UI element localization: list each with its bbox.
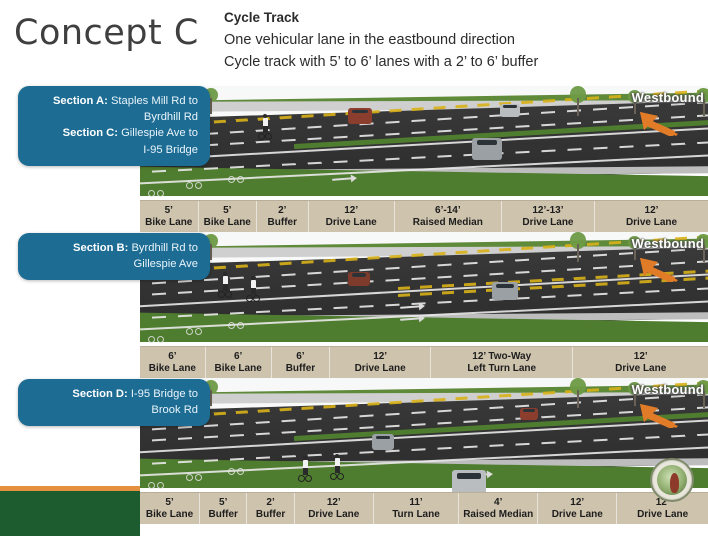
dimension-width: 6’-14’ bbox=[435, 205, 461, 216]
dimension-width: 12’ bbox=[327, 497, 341, 508]
vehicle bbox=[348, 108, 372, 124]
dimension-name: Buffer bbox=[286, 363, 315, 374]
bicycle-wheel bbox=[218, 291, 225, 298]
bike-wheel bbox=[195, 328, 202, 335]
bicycle-wheel bbox=[253, 295, 260, 302]
street-scene-b: Westbound bbox=[140, 232, 708, 346]
dimension-width: 2’ bbox=[266, 497, 274, 508]
dimension-cell: 2’Buffer bbox=[256, 201, 308, 232]
dimension-width: 12’ Two-Way bbox=[472, 351, 531, 362]
tree-trunk bbox=[577, 390, 579, 408]
concept-line-1: One vehicular lane in the eastbound dire… bbox=[224, 29, 702, 51]
bike-wheel bbox=[228, 176, 235, 183]
vehicle bbox=[500, 104, 520, 117]
bicycle-wheel bbox=[305, 475, 312, 482]
bike-wheel bbox=[237, 176, 244, 183]
dimension-width: 4’ bbox=[494, 497, 502, 508]
bike-lane-symbol bbox=[186, 474, 202, 482]
agency-seal-icon bbox=[650, 458, 694, 502]
callout-line: Section A: Staples Mill Rd to bbox=[30, 93, 198, 109]
bike-lane-symbol bbox=[228, 468, 244, 476]
callout-line: Gillespie Ave bbox=[30, 256, 198, 272]
slide-root: Concept C Cycle Track One vehicular lane… bbox=[0, 0, 708, 536]
dimension-cell: 2’Buffer bbox=[246, 493, 293, 524]
tree-trunk bbox=[210, 390, 212, 406]
vehicle-window bbox=[352, 110, 368, 114]
bike-wheel bbox=[157, 190, 164, 197]
concept-line-2: Cycle track with 5’ to 6’ lanes with a 2… bbox=[224, 51, 702, 73]
cyclist-legs bbox=[263, 126, 268, 133]
dimension-cell: 12’Drive Lane bbox=[329, 347, 430, 378]
dimension-name: Turn Lane bbox=[392, 509, 440, 520]
dimension-width: 2’ bbox=[278, 205, 286, 216]
vehicle-window bbox=[496, 284, 514, 288]
dimension-strip-ac: 5’Bike Lane5’Bike Lane2’Buffer12’Drive L… bbox=[140, 200, 708, 232]
callout-line: Byrdhill Rd bbox=[30, 109, 198, 125]
dimension-cell: 6’Bike Lane bbox=[205, 347, 271, 378]
dimension-name: Buffer bbox=[208, 509, 237, 520]
bike-wheel bbox=[195, 474, 202, 481]
dimension-cell: 12’Drive Lane bbox=[537, 493, 616, 524]
dimension-width: 12’ bbox=[634, 351, 648, 362]
bicycle-wheel bbox=[258, 133, 265, 140]
cyclist-legs bbox=[335, 466, 340, 473]
bicycle-wheel bbox=[246, 295, 253, 302]
dimension-width: 5’ bbox=[165, 205, 173, 216]
callout-section-text: Brook Rd bbox=[151, 404, 198, 416]
cross-section-panel-b: Westbound6’Bike Lane6’Bike Lane6’Buffer1… bbox=[140, 232, 708, 378]
dimension-cell: 6’-14’Raised Median bbox=[394, 201, 501, 232]
bike-wheel bbox=[186, 182, 193, 189]
dimension-name: Drive Lane bbox=[326, 217, 377, 228]
dimension-cell: 12’Drive Lane bbox=[594, 201, 708, 232]
callout-section-text: Staples Mill Rd to bbox=[108, 95, 198, 107]
dimension-width: 11’ bbox=[409, 497, 422, 508]
bike-lane-symbol bbox=[148, 336, 164, 344]
dimension-cell: 6’Bike Lane bbox=[140, 347, 205, 378]
callout-section-label: Section A: bbox=[53, 95, 108, 107]
dimension-strip-b: 6’Bike Lane6’Bike Lane6’Buffer12’Drive L… bbox=[140, 346, 708, 378]
vehicle bbox=[492, 282, 518, 300]
dimension-cell: 12’Drive Lane bbox=[572, 347, 708, 378]
dimension-width: 5’ bbox=[165, 497, 173, 508]
vehicle bbox=[472, 138, 502, 160]
dimension-cell: 5’Bike Lane bbox=[198, 201, 257, 232]
vehicle-window bbox=[523, 409, 535, 412]
dimension-name: Buffer bbox=[256, 509, 285, 520]
vehicle bbox=[520, 408, 538, 420]
dimension-width: 6’ bbox=[234, 351, 242, 362]
dimension-name: Bike Lane bbox=[145, 217, 192, 228]
dimension-strip-d: 5’Bike Lane5’Buffer2’Buffer12’Drive Lane… bbox=[140, 492, 708, 524]
concept-heading: Cycle Track bbox=[224, 8, 702, 29]
dimension-cell: 6’Buffer bbox=[271, 347, 330, 378]
roadway bbox=[140, 86, 708, 200]
callout-line: Section D: I-95 Bridge to bbox=[30, 386, 198, 402]
tree-trunk bbox=[210, 98, 212, 114]
bike-wheel bbox=[228, 468, 235, 475]
dimension-cell: 5’Bike Lane bbox=[140, 201, 198, 232]
dimension-width: 6’ bbox=[296, 351, 304, 362]
dimension-name: Left Turn Lane bbox=[467, 363, 536, 374]
vehicle-window bbox=[477, 140, 497, 145]
street-scene-ac: Westbound bbox=[140, 86, 708, 200]
bike-wheel bbox=[237, 322, 244, 329]
dimension-name: Drive Lane bbox=[615, 363, 666, 374]
bike-lane-symbol bbox=[228, 176, 244, 184]
tree-trunk bbox=[210, 244, 212, 260]
bike-wheel bbox=[157, 336, 164, 343]
vehicle bbox=[452, 470, 486, 492]
arrow-up-left-icon bbox=[634, 402, 680, 428]
bike-wheel bbox=[186, 328, 193, 335]
cyclist bbox=[248, 276, 258, 302]
dimension-cell: 12’Drive Lane bbox=[294, 493, 373, 524]
cyclist bbox=[332, 454, 342, 480]
page-title: Concept C bbox=[14, 14, 199, 53]
vehicle-window bbox=[503, 105, 517, 108]
seal-emblem bbox=[670, 473, 679, 493]
bike-wheel bbox=[157, 482, 164, 489]
dimension-name: Raised Median bbox=[413, 217, 483, 228]
callout-section-label: Section C: bbox=[63, 127, 118, 139]
seal-inner bbox=[657, 465, 687, 495]
bike-lane-symbol bbox=[148, 190, 164, 198]
dimension-name: Bike Lane bbox=[215, 363, 262, 374]
dimension-width: 12’ bbox=[570, 497, 584, 508]
street-tree bbox=[570, 232, 586, 262]
street-tree bbox=[570, 86, 586, 116]
arrow-up-left-icon bbox=[634, 256, 680, 282]
bike-wheel bbox=[148, 482, 155, 489]
vehicle-window bbox=[457, 473, 480, 479]
dimension-cell: 12’-13’Drive Lane bbox=[501, 201, 594, 232]
cyclist-legs bbox=[251, 288, 256, 295]
cyclist bbox=[260, 114, 270, 140]
callout-section-text: I-95 Bridge bbox=[143, 144, 198, 156]
dimension-width: 12’ bbox=[344, 205, 358, 216]
dimension-width: 5’ bbox=[219, 497, 227, 508]
cyclist-legs bbox=[303, 468, 308, 475]
dimension-width: 12’-13’ bbox=[532, 205, 563, 216]
callout-section-text: Gillespie Ave bbox=[134, 258, 198, 270]
bicycle-wheel bbox=[225, 291, 232, 298]
callout-section-text: Byrdhill Rd bbox=[144, 111, 198, 123]
footer-color-bar bbox=[0, 486, 140, 536]
bike-lane-symbol bbox=[186, 182, 202, 190]
callout-line: Brook Rd bbox=[30, 402, 198, 418]
dimension-cell: 11’Turn Lane bbox=[373, 493, 458, 524]
bicycle-wheel bbox=[265, 133, 272, 140]
dimension-name: Drive Lane bbox=[637, 509, 688, 520]
cyclist bbox=[220, 272, 230, 298]
dimension-name: Drive Lane bbox=[308, 509, 359, 520]
vehicle-window bbox=[376, 436, 391, 440]
dimension-cell: 12’Drive Lane bbox=[308, 201, 394, 232]
cross-section-panel-ac: Westbound5’Bike Lane5’Bike Lane2’Buffer1… bbox=[140, 86, 708, 232]
dimension-name: Bike Lane bbox=[149, 363, 196, 374]
bike-wheel bbox=[237, 468, 244, 475]
tree-trunk bbox=[577, 98, 579, 116]
vehicle bbox=[348, 272, 370, 286]
callout-line: Section B: Byrdhill Rd to bbox=[30, 240, 198, 256]
bicycle-wheel bbox=[330, 473, 337, 480]
callout-line: I-95 Bridge bbox=[30, 142, 198, 158]
cross-section-panel-d: Westbound5’Bike Lane5’Buffer2’Buffer12’D… bbox=[140, 378, 708, 524]
dimension-name: Bike Lane bbox=[146, 509, 193, 520]
bike-lane-symbol bbox=[186, 328, 202, 336]
direction-label: Westbound bbox=[632, 90, 704, 105]
bike-lane-symbol bbox=[228, 322, 244, 330]
section-callout-d[interactable]: Section D: I-95 Bridge toBrook Rd bbox=[18, 379, 210, 426]
cyclist-legs bbox=[223, 284, 228, 291]
bike-wheel bbox=[148, 336, 155, 343]
dimension-width: 6’ bbox=[168, 351, 176, 362]
dimension-name: Drive Lane bbox=[355, 363, 406, 374]
vehicle-window bbox=[352, 273, 367, 276]
dimension-width: 5’ bbox=[223, 205, 231, 216]
bike-wheel bbox=[228, 322, 235, 329]
callout-section-text: Byrdhill Rd to bbox=[128, 242, 198, 254]
dimension-cell: 4’Raised Median bbox=[458, 493, 537, 524]
callout-section-label: Section D: bbox=[72, 388, 127, 400]
callout-line: Section C: Gillespie Ave to bbox=[30, 125, 198, 141]
dimension-cell: 12’ Two-WayLeft Turn Lane bbox=[430, 347, 573, 378]
bike-lane-symbol bbox=[148, 482, 164, 490]
dimension-cell: 5’Bike Lane bbox=[140, 493, 199, 524]
callout-section-label: Section B: bbox=[73, 242, 128, 254]
callout-section-text: Gillespie Ave to bbox=[118, 127, 198, 139]
street-scene-d: Westbound bbox=[140, 378, 708, 492]
roadway bbox=[140, 232, 708, 346]
bike-wheel bbox=[186, 474, 193, 481]
dimension-name: Drive Lane bbox=[626, 217, 677, 228]
dimension-name: Buffer bbox=[268, 217, 297, 228]
dimension-name: Bike Lane bbox=[204, 217, 251, 228]
concept-description: Cycle Track One vehicular lane in the ea… bbox=[224, 8, 702, 74]
section-callout-ac[interactable]: Section A: Staples Mill Rd toByrdhill Rd… bbox=[18, 86, 210, 166]
dimension-cell: 5’Buffer bbox=[199, 493, 246, 524]
bike-wheel bbox=[148, 190, 155, 197]
callout-section-text: I-95 Bridge to bbox=[128, 388, 198, 400]
dimension-width: 12’ bbox=[645, 205, 659, 216]
direction-label: Westbound bbox=[632, 382, 704, 397]
bicycle-wheel bbox=[337, 473, 344, 480]
roadway bbox=[140, 378, 708, 492]
tree-trunk bbox=[577, 244, 579, 262]
dimension-name: Raised Median bbox=[463, 509, 533, 520]
arrow-up-left-icon bbox=[634, 110, 680, 136]
dimension-name: Drive Lane bbox=[552, 509, 603, 520]
direction-label: Westbound bbox=[632, 236, 704, 251]
bike-wheel bbox=[195, 182, 202, 189]
street-tree bbox=[570, 378, 586, 408]
dimension-name: Drive Lane bbox=[522, 217, 573, 228]
vehicle bbox=[372, 434, 394, 450]
section-callout-b[interactable]: Section B: Byrdhill Rd toGillespie Ave bbox=[18, 233, 210, 280]
dimension-width: 12’ bbox=[373, 351, 387, 362]
bicycle-wheel bbox=[298, 475, 305, 482]
cyclist bbox=[300, 456, 310, 482]
